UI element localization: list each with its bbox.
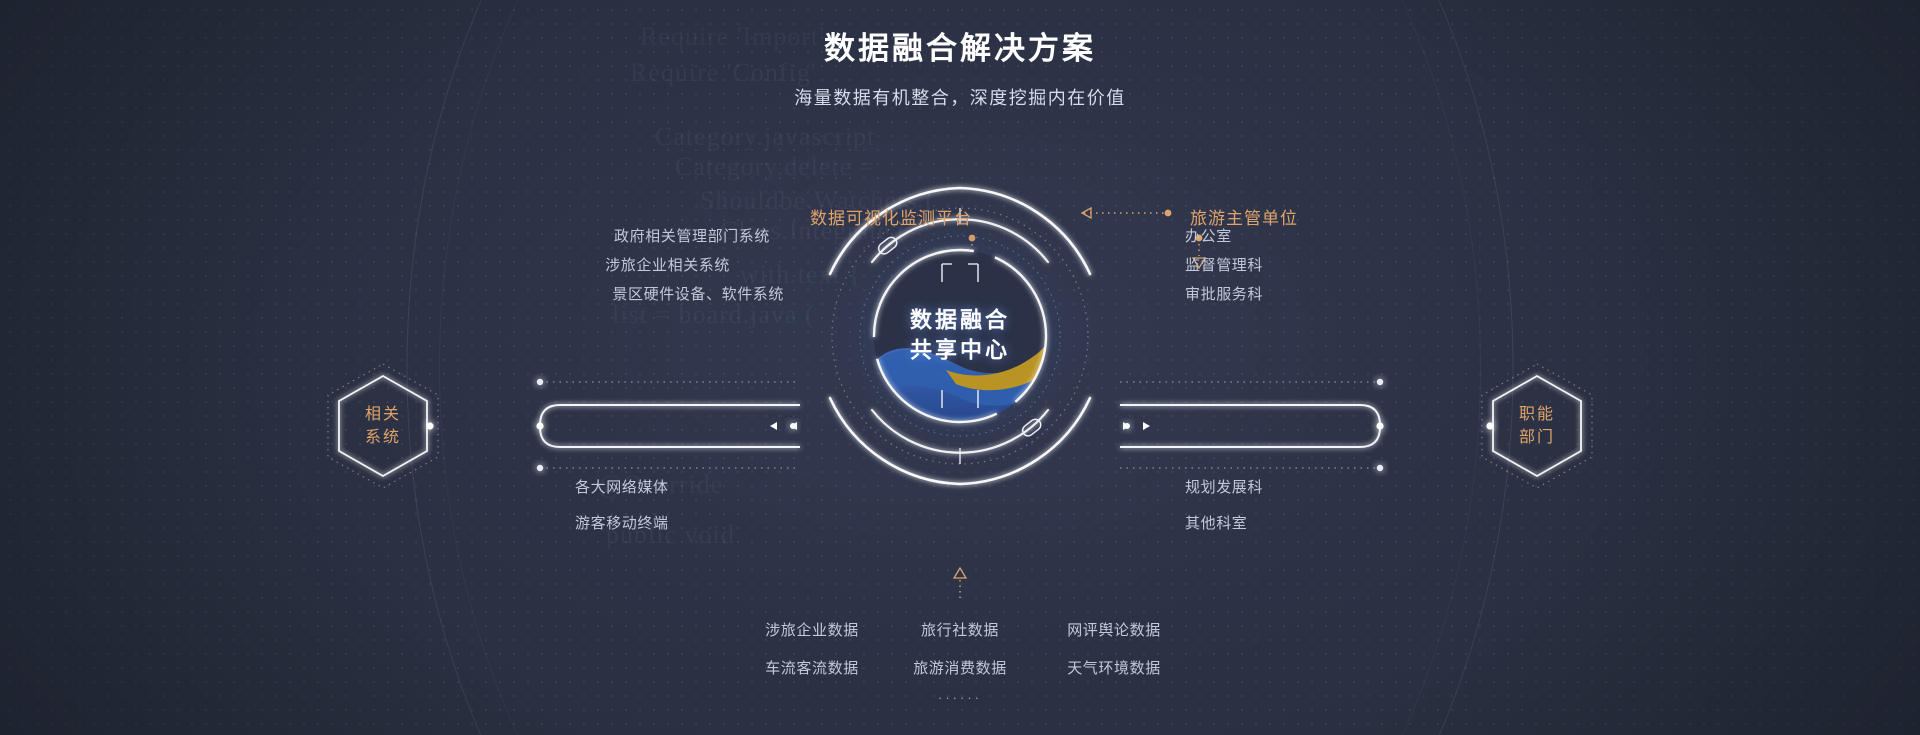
left-item-tourist-mobile-terminal[interactable]: 游客移动终端 [575,512,669,533]
bottom-item-travel-agency-data[interactable]: 旅行社数据 [921,619,999,640]
core-label: 数据融合 共享中心 [910,306,1010,367]
right-item-supervision-dept[interactable]: 监督管理科 [1185,254,1263,275]
hexagon-left-line1: 相关 [365,403,401,426]
bottom-item-traffic-passenger-data[interactable]: 车流客流数据 [765,657,859,678]
right-item-planning-development-dept[interactable]: 规划发展科 [1185,476,1263,497]
left-item-scenic-hardware-software[interactable]: 景区硬件设备、软件系统 [612,283,784,304]
right-item-other-depts[interactable]: 其他科室 [1185,512,1247,533]
hexagon-left-line2: 系统 [365,426,401,449]
right-item-approval-service-dept[interactable]: 审批服务科 [1185,283,1263,304]
left-item-tourism-enterprise-systems[interactable]: 涉旅企业相关系统 [605,254,730,275]
bottom-ellipsis: ······ [938,690,982,705]
right-item-office[interactable]: 办公室 [1185,225,1232,246]
node-data-visualization-platform[interactable]: 数据可视化监测平台 [810,204,972,229]
bottom-item-online-review-data[interactable]: 网评舆论数据 [1067,619,1161,640]
hexagon-right-line2: 部门 [1519,426,1555,449]
hexagon-right-line1: 职能 [1519,403,1555,426]
hexagon-functional-departments[interactable]: 职能 部门 [1489,372,1585,480]
core-line-1: 数据融合 [910,306,1010,336]
hexagon-related-systems[interactable]: 相关 系统 [335,372,431,480]
core-line-2: 共享中心 [910,336,1010,366]
bottom-item-tourism-consumption-data[interactable]: 旅游消费数据 [913,657,1007,678]
bottom-item-weather-environment-data[interactable]: 天气环境数据 [1067,657,1161,678]
hexagon-left-label: 相关 系统 [335,372,431,480]
hexagon-right-label: 职能 部门 [1489,372,1585,480]
left-item-network-media[interactable]: 各大网络媒体 [575,476,669,497]
infographic-canvas: Require 'Import' Require 'Config' Catego… [0,0,1920,735]
left-item-gov-dept-systems[interactable]: 政府相关管理部门系统 [614,225,770,246]
bottom-item-tourism-enterprise-data[interactable]: 涉旅企业数据 [765,619,859,640]
